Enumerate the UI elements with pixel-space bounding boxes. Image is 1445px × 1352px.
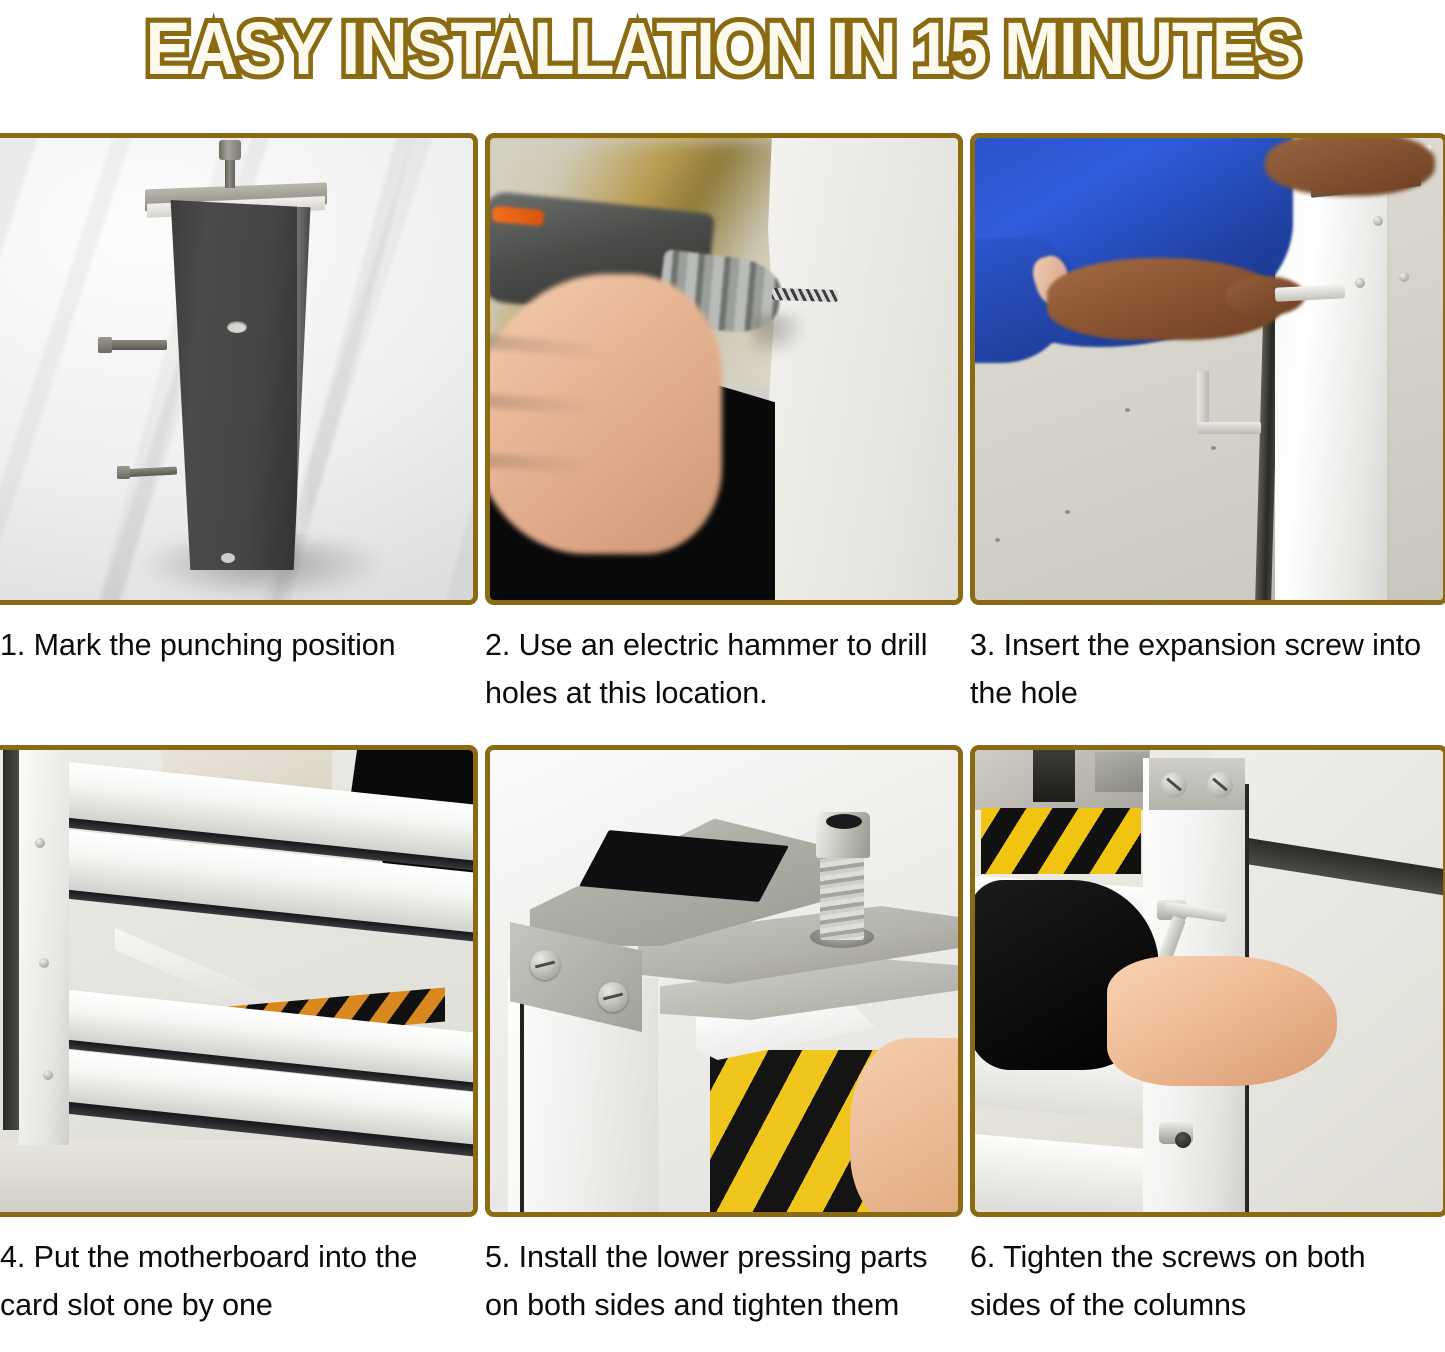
step-card-6: 6. Tighten the screws on both sides of t… [970, 745, 1445, 1352]
page-title: EASY INSTALLATION IN 15 MINUTES [145, 9, 1299, 85]
step-3-caption: 3. Insert the expansion screw into the h… [970, 621, 1430, 717]
steps-grid: 1. Mark the punching position [0, 133, 1445, 1352]
step-card-2: 2. Use an electric hammer to drill holes… [485, 133, 970, 745]
step-2-photo-frame [485, 133, 963, 605]
step-3-photo-frame [970, 133, 1445, 605]
step-1-photo-frame [0, 133, 478, 605]
step-4-caption: 4. Put the motherboard into the card slo… [0, 1233, 460, 1329]
installation-guide-page: EASY INSTALLATION IN 15 MINUTES [0, 0, 1445, 1352]
drill-into-wall-image [490, 138, 958, 600]
step-6-caption: 6. Tighten the screws on both sides of t… [970, 1233, 1430, 1329]
step-card-4: 4. Put the motherboard into the card slo… [0, 745, 485, 1352]
steps-row-2: 4. Put the motherboard into the card slo… [0, 745, 1445, 1352]
banner-title-bar: EASY INSTALLATION IN 15 MINUTES [0, 0, 1445, 95]
step-4-photo-frame [0, 745, 478, 1217]
insert-expansion-screw-image [975, 138, 1443, 600]
steps-row-1: 1. Mark the punching position [0, 133, 1445, 745]
step-6-photo-frame [970, 745, 1445, 1217]
step-5-caption: 5. Install the lower pressing parts on b… [485, 1233, 945, 1329]
tighten-column-screws-image [975, 750, 1443, 1212]
insert-boards-into-card-slot-image [0, 750, 473, 1212]
step-5-photo-frame [485, 745, 963, 1217]
step-1-caption: 1. Mark the punching position [0, 621, 460, 669]
step-2-caption: 2. Use an electric hammer to drill holes… [485, 621, 945, 717]
step-card-5: 5. Install the lower pressing parts on b… [485, 745, 970, 1352]
install-lower-pressing-parts-image [490, 750, 958, 1212]
dark-tapered-column-on-white-cloth-image [0, 138, 473, 600]
step-card-3: 3. Insert the expansion screw into the h… [970, 133, 1445, 745]
step-card-1: 1. Mark the punching position [0, 133, 485, 745]
